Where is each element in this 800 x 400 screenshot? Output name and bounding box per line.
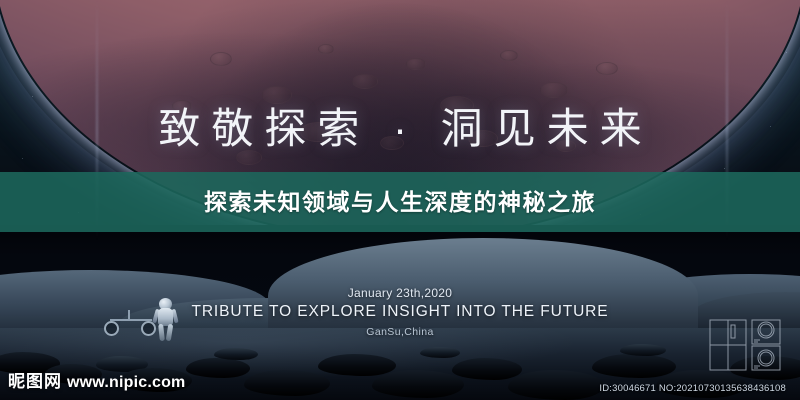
english-tagline: TRIBUTE TO EXPLORE INSIGHT INTO THE FUTU…: [0, 301, 800, 323]
banner-text: 探索未知领域与人生深度的神秘之旅: [204, 191, 596, 214]
watermark: 昵图网 www.nipic.com: [8, 367, 185, 392]
hud-panel-icon: [708, 318, 782, 372]
hud-panel-decoration: [708, 318, 782, 372]
green-banner: 探索未知领域与人生深度的神秘之旅: [0, 172, 800, 232]
caption-block: January 23th,2020 TRIBUTE TO EXPLORE INS…: [0, 286, 800, 341]
headline-text: 致敬探索 · 洞见未来: [147, 108, 652, 150]
event-location: GanSu,China: [0, 323, 800, 341]
image-id-line: ID:30046671 NO:20210730135638436108: [599, 383, 786, 394]
planet-crater-texture: [0, 0, 800, 200]
poster-headline: 致敬探索 · 洞见未来: [0, 108, 800, 150]
watermark-url: www.nipic.com: [67, 374, 185, 392]
poster-canvas: 致敬探索 · 洞见未来 探索未知领域与人生深度的神秘之旅: [0, 0, 800, 400]
watermark-brand-cn: 昵图网: [8, 367, 62, 392]
event-date: January 23th,2020: [0, 286, 800, 301]
